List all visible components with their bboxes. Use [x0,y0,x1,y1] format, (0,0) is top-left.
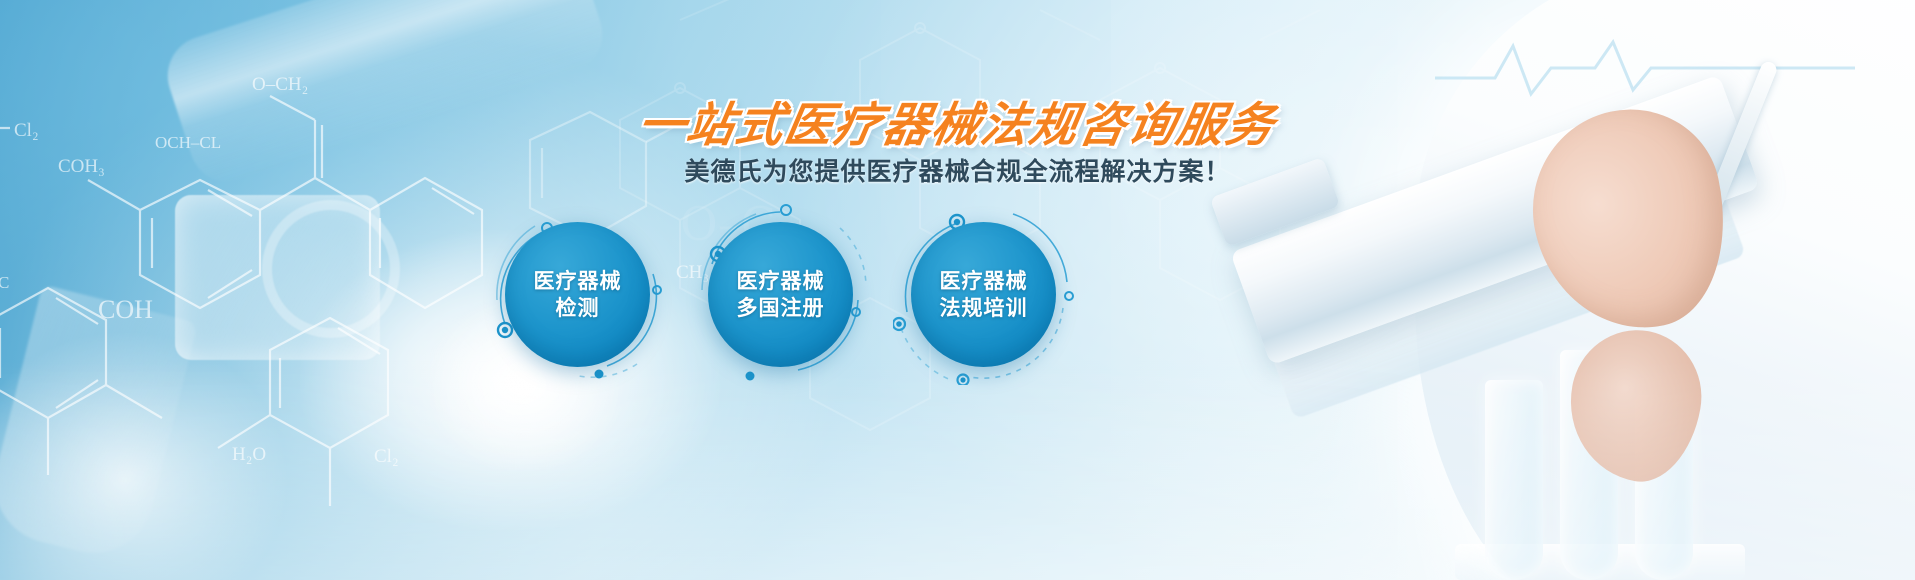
service-circle-body[interactable]: 医疗器械 法规培训 [911,222,1056,367]
service-label-line1: 医疗器械 [534,268,622,295]
service-circle-body[interactable]: 医疗器械 检测 [505,222,650,367]
service-circle-group: 医疗器械 检测 [505,222,1095,372]
service-circle-registration[interactable]: 医疗器械 多国注册 [708,222,853,367]
chem-label-och-cl: OCH–CL [155,133,221,152]
service-label-line1: 医疗器械 [737,268,825,295]
ecg-wave-decor [1435,28,1855,108]
service-circle-detection[interactable]: 医疗器械 检测 [505,222,650,367]
service-label-line2: 多国注册 [737,295,825,322]
page-subtitle: 美德氏为您提供医疗器械合规全流程解决方案！ [684,152,1230,188]
service-circle-training[interactable]: 医疗器械 法规培训 [911,222,1056,367]
service-circle-body[interactable]: 医疗器械 多国注册 [708,222,853,367]
chem-label-c: C [0,273,9,292]
service-label-line1: 医疗器械 [940,268,1028,295]
promo-banner: Cl₂ COH₃ O–CH₂ OCH–CL H₂O Cl Cl₂ CH₃ COH… [0,0,1915,580]
subtitle-container: 美德氏为您提供医疗器械合规全流程解决方案！ [0,152,1915,188]
chem-label-coh-faint: COH [98,295,153,324]
chem-label-och2: O–CH₂ [252,74,308,95]
chem-label-cl2-top: Cl₂ [14,120,39,141]
background-bottom-fade [0,360,1915,580]
service-label-line2: 检测 [556,295,600,322]
service-label-line2: 法规培训 [940,295,1028,322]
